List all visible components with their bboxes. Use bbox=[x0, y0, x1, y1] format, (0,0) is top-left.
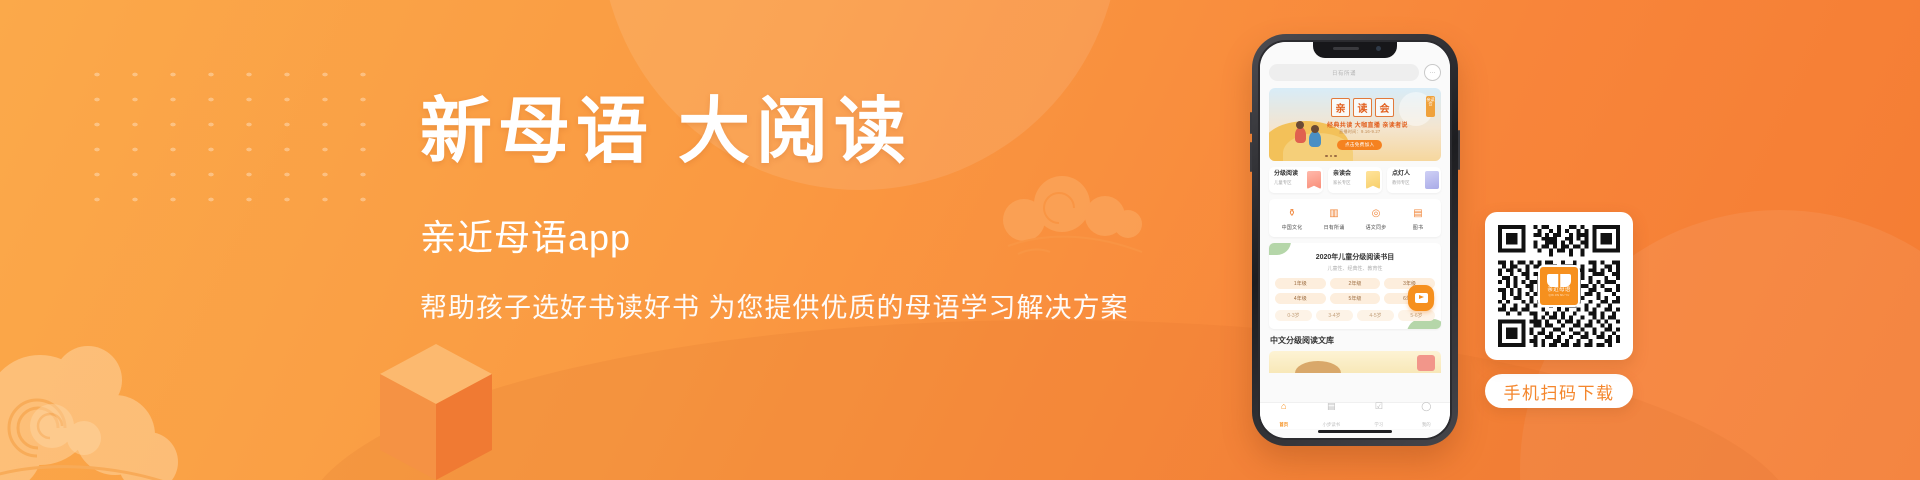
quick-link-daily-recitation[interactable]: ▥ 日有所诵 bbox=[1313, 206, 1355, 231]
promo-title: 亲 读 会 bbox=[1331, 98, 1394, 117]
promo-title-char-1: 亲 bbox=[1331, 98, 1350, 117]
open-book-icon: ▥ bbox=[1327, 206, 1342, 221]
qr-download-block: 亲近母语 QIN JIN MU YU 手机扫码下载 bbox=[1485, 212, 1633, 408]
home-icon: ⌂ bbox=[1260, 402, 1308, 411]
brand-logo: 亲近母语 QIN JIN MU YU bbox=[1538, 265, 1580, 307]
tab-reading[interactable]: ▤ 小步读书 bbox=[1308, 402, 1356, 431]
bookmark-icon bbox=[1366, 171, 1380, 189]
message-icon[interactable]: ··· bbox=[1424, 64, 1441, 81]
dot-grid-pattern bbox=[78, 62, 388, 222]
grade-chip[interactable]: 5年级 bbox=[1330, 293, 1381, 304]
promo-cta-button[interactable]: 点击免费加入 bbox=[1337, 140, 1382, 150]
promo-date: 直播时间：9.16-9.27 bbox=[1339, 129, 1380, 135]
age-chip-row: 0-3岁 3-4岁 4-5岁 5-6岁 bbox=[1275, 310, 1435, 321]
banner-tagline: 帮助孩子选好书读好书 为您提供优质的母语学习解决方案 bbox=[420, 292, 1240, 324]
phone-power-button bbox=[1458, 130, 1460, 170]
promo-card[interactable]: 亲 读 会 亲读会 经典共读 大咖直播 亲读者说 直播时间：9.16-9.27 … bbox=[1269, 88, 1441, 161]
tab-label: 首页 bbox=[1279, 422, 1288, 427]
study-icon: ☑ bbox=[1355, 402, 1403, 411]
download-button[interactable]: 手机扫码下载 bbox=[1485, 374, 1633, 408]
auspicious-cloud-left-icon bbox=[0, 340, 270, 480]
quick-links-row: ⚱ 中国文化 ▥ 日有所诵 ◎ 语文同步 ▤ 图书 bbox=[1269, 199, 1441, 237]
shelf-shape-1 bbox=[1295, 361, 1341, 373]
search-row: 日有所诵 ··· bbox=[1269, 64, 1441, 81]
age-chip[interactable]: 3-4岁 bbox=[1316, 310, 1353, 321]
age-chip[interactable]: 4-5岁 bbox=[1357, 310, 1394, 321]
quick-link-books[interactable]: ▤ 图书 bbox=[1397, 206, 1439, 231]
tab-home[interactable]: ⌂ 首页 bbox=[1260, 402, 1308, 431]
library-shelf-preview[interactable] bbox=[1269, 351, 1441, 373]
vase-icon: ⚱ bbox=[1285, 206, 1300, 221]
quick-link-label: 图书 bbox=[1397, 224, 1439, 231]
profile-icon: ◯ bbox=[1403, 402, 1451, 411]
booklist-subtitle: 儿童性、经典性、教育性 bbox=[1275, 265, 1435, 272]
phone-mockup: 日有所诵 ··· 亲 读 会 亲读会 经典共读 大咖直播 亲读者说 bbox=[1252, 34, 1458, 446]
promo-title-char-2: 读 bbox=[1353, 98, 1372, 117]
phone-notch bbox=[1313, 42, 1397, 58]
grade-chip[interactable]: 4年级 bbox=[1275, 293, 1326, 304]
qr-code-card: 亲近母语 QIN JIN MU YU bbox=[1485, 212, 1633, 360]
quick-link-label: 语文同步 bbox=[1355, 224, 1397, 231]
entry-card-teacher[interactable]: 点灯人 教师专区 bbox=[1387, 167, 1441, 193]
phone-volume-down-button bbox=[1250, 142, 1252, 172]
tab-profile[interactable]: ◯ 我的 bbox=[1403, 402, 1451, 431]
age-chip[interactable]: 0-3岁 bbox=[1275, 310, 1312, 321]
quick-link-textbook-sync[interactable]: ◎ 语文同步 bbox=[1355, 206, 1397, 231]
small-cloud-swirl-icon bbox=[18, 364, 148, 474]
promo-subtitle: 经典共读 大咖直播 亲读者说 bbox=[1327, 120, 1408, 129]
bottom-tab-bar: ⌂ 首页 ▤ 小步读书 ☑ 学习 ◯ 我的 bbox=[1260, 402, 1450, 429]
tab-label: 我的 bbox=[1422, 422, 1431, 427]
tab-study[interactable]: ☑ 学习 bbox=[1355, 402, 1403, 431]
grade-chip[interactable]: 1年级 bbox=[1275, 278, 1326, 289]
shelf-shape-2 bbox=[1417, 355, 1435, 371]
child-illustration-2 bbox=[1309, 131, 1321, 147]
entry-card-graded-reading[interactable]: 分级阅读 儿童专区 bbox=[1269, 167, 1323, 193]
entry-card-row: 分级阅读 儿童专区 亲读会 家长专区 点灯人 教师专区 bbox=[1269, 167, 1441, 193]
app-screen: 日有所诵 ··· 亲 读 会 亲读会 经典共读 大咖直播 亲读者说 bbox=[1260, 42, 1450, 438]
bookmark-icon bbox=[1307, 171, 1321, 189]
promo-banner: 新母语 大阅读 亲近母语app 帮助孩子选好书读好书 为您提供优质的母语学习解决… bbox=[0, 0, 1920, 480]
tab-label: 小步读书 bbox=[1322, 422, 1340, 427]
page-title: 新母语 大阅读 bbox=[420, 96, 1240, 168]
decorative-cube bbox=[380, 344, 492, 480]
app-name: 亲近母语app bbox=[420, 220, 1240, 256]
video-play-icon[interactable] bbox=[1408, 285, 1434, 311]
promo-ribbon: 亲读会 bbox=[1426, 96, 1435, 117]
reading-icon: ▤ bbox=[1308, 402, 1356, 411]
search-input[interactable]: 日有所诵 bbox=[1269, 64, 1419, 81]
open-book-logo-icon bbox=[1547, 274, 1571, 287]
phone-home-indicator bbox=[1318, 430, 1392, 433]
quick-link-label: 中国文化 bbox=[1271, 224, 1313, 231]
sync-icon: ◎ bbox=[1369, 206, 1384, 221]
book-icon: ▤ bbox=[1411, 206, 1426, 221]
child-illustration-1 bbox=[1295, 127, 1306, 143]
grade-chip[interactable]: 2年级 bbox=[1330, 278, 1381, 289]
age-chip[interactable]: 5-6岁 bbox=[1398, 310, 1435, 321]
quick-link-chinese-culture[interactable]: ⚱ 中国文化 bbox=[1271, 206, 1313, 231]
promo-title-char-3: 会 bbox=[1375, 98, 1394, 117]
brand-name-pinyin: QIN JIN MU YU bbox=[1549, 295, 1570, 298]
carousel-dots[interactable] bbox=[1325, 155, 1337, 158]
entry-card-parent-club[interactable]: 亲读会 家长专区 bbox=[1328, 167, 1382, 193]
banner-copy: 新母语 大阅读 亲近母语app 帮助孩子选好书读好书 为您提供优质的母语学习解决… bbox=[420, 96, 1240, 324]
tab-label: 学习 bbox=[1374, 422, 1383, 427]
section-title-library: 中文分级阅读文库 bbox=[1270, 335, 1441, 346]
person-icon bbox=[1425, 171, 1439, 189]
booklist-card: 2020年儿童分级阅读书目 儿童性、经典性、教育性 1年级 2年级 3年级 4年… bbox=[1269, 243, 1441, 329]
booklist-title: 2020年儿童分级阅读书目 bbox=[1275, 252, 1435, 262]
phone-volume-up-button bbox=[1250, 112, 1252, 134]
quick-link-label: 日有所诵 bbox=[1313, 224, 1355, 231]
